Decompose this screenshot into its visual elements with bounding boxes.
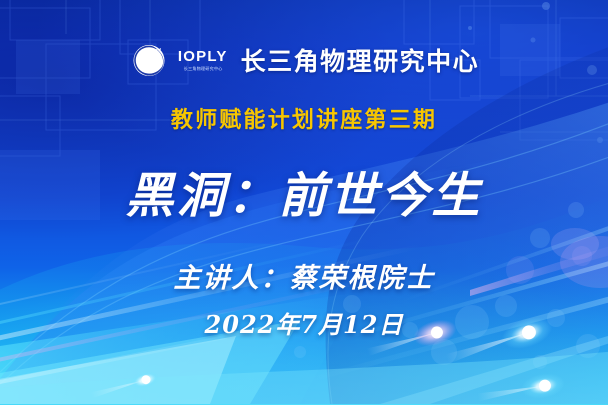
poster-content: IOPLY 长三角物理研究中心 长三角物理研究中心 教师赋能计划讲座第三期 黑洞… bbox=[0, 0, 608, 405]
brand-header: IOPLY 长三角物理研究中心 长三角物理研究中心 bbox=[129, 40, 479, 80]
speaker-line: 主讲人：蔡荣根院士 bbox=[174, 256, 435, 295]
logo-wordmark: IOPLY 长三角物理研究中心 bbox=[178, 49, 228, 71]
logo-wordmark-text: IOPLY bbox=[178, 49, 228, 65]
poster-canvas: IOPLY 长三角物理研究中心 长三角物理研究中心 教师赋能计划讲座第三期 黑洞… bbox=[0, 0, 608, 405]
stylized-phoenix-bird-circle-icon bbox=[129, 40, 169, 80]
event-date: 2022年7月12日 bbox=[205, 305, 404, 340]
logo-wordmark-subtext: 长三角物理研究中心 bbox=[183, 67, 222, 71]
organization-name: 长三角物理研究中心 bbox=[241, 42, 480, 78]
lecture-series-label: 教师赋能计划讲座第三期 bbox=[171, 102, 437, 134]
lecture-title: 黑洞：前世今生 bbox=[125, 156, 482, 226]
